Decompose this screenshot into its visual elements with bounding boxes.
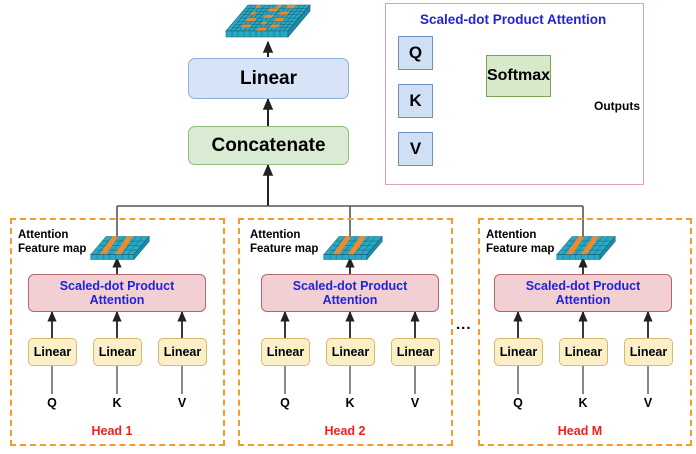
head-m-linear-k-label: Linear	[565, 345, 603, 359]
heads-ellipsis: ...	[456, 316, 472, 333]
head-m-feature-map-icon	[554, 234, 618, 264]
outputs-label: Outputs	[594, 99, 640, 113]
head-m-linear-k[interactable]: Linear	[559, 338, 608, 366]
head-m-sdpa-block[interactable]: Scaled-dot Product Attention	[494, 274, 672, 312]
head-m-featuremap-caption-line1: Attention	[486, 229, 536, 241]
head-2-input-q: Q	[275, 396, 295, 410]
softmax-label: Softmax	[487, 67, 550, 85]
head-2-featuremap-caption-line1: Attention	[250, 229, 300, 241]
key-label: K	[409, 91, 421, 110]
head-1-sdpa-block[interactable]: Scaled-dot Product Attention	[28, 274, 206, 312]
softmax-block[interactable]: Softmax	[486, 55, 551, 97]
head-m-input-k: K	[573, 396, 593, 410]
key-input-box[interactable]: K	[398, 84, 433, 118]
head-2-sdpa-line2: Attention	[323, 293, 378, 307]
head-1-linear-k-label: Linear	[99, 345, 137, 359]
head-1-linear-q-label: Linear	[34, 345, 72, 359]
head-m-linear-q-label: Linear	[500, 345, 538, 359]
concatenate-label: Concatenate	[211, 135, 325, 156]
head-1-input-v: V	[172, 396, 192, 410]
output-feature-map-icon	[222, 2, 314, 44]
head-1-featuremap-caption-line1: Attention	[18, 229, 68, 241]
linear-output-block[interactable]: Linear	[188, 58, 349, 99]
head-m-linear-v[interactable]: Linear	[624, 338, 673, 366]
head-1-label: Head 1	[77, 424, 147, 438]
head-2-input-v: V	[405, 396, 425, 410]
head-2-linear-k[interactable]: Linear	[326, 338, 375, 366]
head-1-featuremap-caption-line2: Feature map	[18, 243, 86, 255]
head-1-linear-v-label: Linear	[164, 345, 202, 359]
head-1-linear-q[interactable]: Linear	[28, 338, 77, 366]
head-m-featuremap-caption: Attention Feature map	[486, 228, 554, 256]
head-2-linear-v[interactable]: Linear	[391, 338, 440, 366]
value-input-box[interactable]: V	[398, 132, 433, 166]
head-m-linear-v-label: Linear	[630, 345, 668, 359]
head-2-linear-k-label: Linear	[332, 345, 370, 359]
head-m-linear-q[interactable]: Linear	[494, 338, 543, 366]
head-2-linear-v-label: Linear	[397, 345, 435, 359]
head-1-sdpa-line1: Scaled-dot Product	[60, 279, 175, 293]
detail-panel-title: Scaled-dot Product Attention	[420, 12, 606, 27]
head-1-featuremap-caption: Attention Feature map	[18, 228, 86, 256]
head-m-label: Head M	[543, 424, 617, 438]
head-m-sdpa-line1: Scaled-dot Product	[526, 279, 641, 293]
head-2-sdpa-line1: Scaled-dot Product	[293, 279, 408, 293]
query-label: Q	[409, 43, 422, 62]
head-1-linear-k[interactable]: Linear	[93, 338, 142, 366]
head-1-input-q: Q	[42, 396, 62, 410]
head-2-featuremap-caption-line2: Feature map	[250, 243, 318, 255]
head-1-input-k: K	[107, 396, 127, 410]
head-1-feature-map-icon	[88, 234, 152, 264]
head-2-label: Head 2	[310, 424, 380, 438]
head-2-input-k: K	[340, 396, 360, 410]
head-2-linear-q-label: Linear	[267, 345, 305, 359]
head-m-input-q: Q	[508, 396, 528, 410]
head-2-linear-q[interactable]: Linear	[261, 338, 310, 366]
linear-output-label: Linear	[240, 68, 297, 89]
query-input-box[interactable]: Q	[398, 36, 433, 70]
head-m-sdpa-line2: Attention	[556, 293, 611, 307]
head-1-sdpa-line2: Attention	[90, 293, 145, 307]
head-2-featuremap-caption: Attention Feature map	[250, 228, 318, 256]
head-2-sdpa-block[interactable]: Scaled-dot Product Attention	[261, 274, 439, 312]
head-m-featuremap-caption-line2: Feature map	[486, 243, 554, 255]
head-m-input-v: V	[638, 396, 658, 410]
value-label: V	[410, 139, 421, 158]
head-2-feature-map-icon	[321, 234, 385, 264]
diagram-canvas: Linear Concatenate Scaled-dot Product At…	[0, 0, 696, 454]
concatenate-block[interactable]: Concatenate	[188, 126, 349, 165]
head-1-linear-v[interactable]: Linear	[158, 338, 207, 366]
